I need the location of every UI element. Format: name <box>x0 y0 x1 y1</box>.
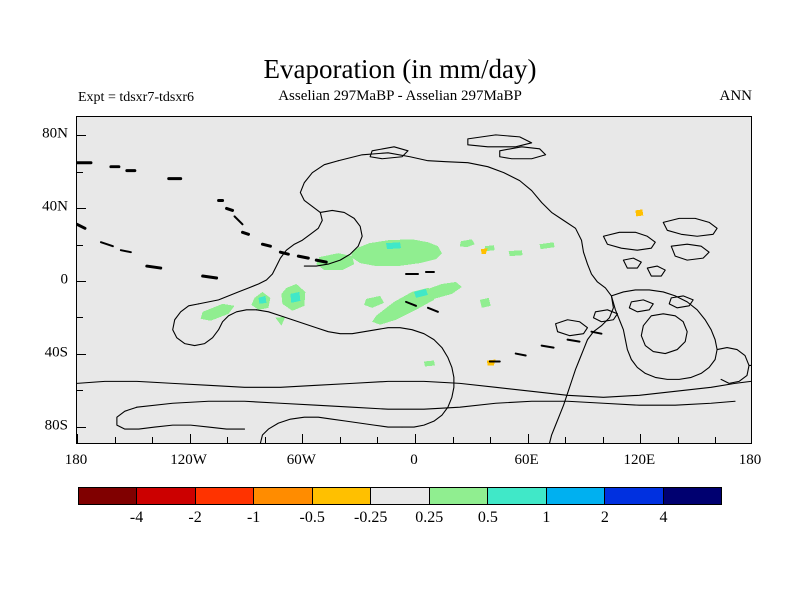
island-dash-22 <box>542 346 554 348</box>
island-dash-6 <box>227 208 233 210</box>
page-title: Evaporation (in mm/day) <box>0 54 800 85</box>
island-dash-21 <box>516 354 526 356</box>
island-dash-10 <box>280 252 288 254</box>
coastline-se-continent <box>611 290 717 379</box>
xtick-60w <box>302 434 303 443</box>
coastline-south-arc-b <box>593 310 617 322</box>
xaxis-label-180e: 180 <box>739 452 762 469</box>
anomaly-green-speck-c <box>540 242 555 249</box>
coastline-antarctic-inner <box>137 401 735 409</box>
island-dash-8 <box>243 232 249 234</box>
xtick-0 <box>415 434 416 443</box>
colorbar-segment-10 <box>664 488 721 504</box>
ytick-80n <box>77 135 86 136</box>
coastline-ne-island-a <box>603 232 655 250</box>
xtick-80e <box>565 437 566 443</box>
colorbar-label-5: 0.25 <box>415 509 443 527</box>
colorbar-label-2: -1 <box>247 509 260 527</box>
figure-root: Evaporation (in mm/day) Expt = tdsxr7-td… <box>0 0 800 600</box>
coastline-south-continent-bottom <box>260 417 402 443</box>
anomaly-fills <box>201 209 644 366</box>
colorbar-label-3: -0.5 <box>300 509 325 527</box>
colorbar-swatches <box>78 487 722 505</box>
map-plot-area <box>76 116 752 444</box>
ytick-0 <box>77 281 86 282</box>
island-dash-7 <box>235 216 243 224</box>
coastline-north-upper-left <box>199 161 339 304</box>
anomaly-green-tick-small <box>275 317 285 326</box>
colorbar-label-1: -2 <box>188 509 201 527</box>
xtick-140e <box>678 437 679 443</box>
anomaly-green-south-speck <box>424 361 435 367</box>
colorbar-label-7: 1 <box>542 509 550 527</box>
coastline-ne-island-e <box>647 266 665 276</box>
xtick-180w <box>77 434 78 443</box>
xaxis-label-120w: 120W <box>170 452 207 469</box>
colorbar-segment-4 <box>313 488 371 504</box>
coastline-south-arc-c <box>629 300 653 312</box>
xaxis-label-60e: 60E <box>515 452 539 469</box>
xtick-140w <box>152 437 153 443</box>
anomaly-teal-core-equatorial <box>386 242 401 249</box>
xaxis-label-0: 0 <box>410 452 418 469</box>
island-dash-13 <box>77 224 85 228</box>
ytick-40n <box>77 208 86 209</box>
coastlines <box>77 135 751 443</box>
ytick-80s <box>77 427 86 428</box>
coastline-ne-island-c <box>671 244 709 260</box>
yaxis-label-40n: 40N <box>16 199 68 216</box>
map-canvas <box>77 117 751 443</box>
xtick-100e <box>603 437 604 443</box>
island-dash-23 <box>568 340 580 342</box>
colorbar-segment-1 <box>137 488 195 504</box>
colorbar-segment-7 <box>488 488 546 504</box>
ytick-60n <box>77 172 83 173</box>
anomaly-green-coast-notch <box>480 298 491 308</box>
anomaly-green-south-diagonal-b <box>426 282 462 299</box>
anomaly-amber-ne-speck <box>635 209 643 216</box>
xtick-160w <box>115 437 116 443</box>
colorbar-segment-3 <box>254 488 312 504</box>
anomaly-green-south-patch <box>201 304 235 321</box>
xtick-80w <box>265 437 266 443</box>
colorbar-label-0: -4 <box>130 509 143 527</box>
anomaly-green-speck-a <box>460 239 475 247</box>
island-dash-17 <box>203 276 217 278</box>
island-dash-12 <box>316 260 326 262</box>
anomaly-green-speck-b <box>509 250 523 256</box>
yaxis-label-80n: 80N <box>16 126 68 143</box>
yaxis-label-40s: 40S <box>16 344 68 361</box>
island-dash-14 <box>101 242 113 246</box>
colorbar-label-9: 4 <box>659 509 667 527</box>
colorbar-segment-8 <box>547 488 605 504</box>
xaxis-label-60w: 60W <box>287 452 316 469</box>
xtick-20w <box>377 437 378 443</box>
xaxis-label-120e: 120E <box>623 452 655 469</box>
colorbar-segment-6 <box>430 488 488 504</box>
xtick-180e <box>751 434 752 443</box>
ytick-20s <box>77 317 83 318</box>
ytick-60s <box>77 390 83 391</box>
island-dash-15 <box>121 250 131 252</box>
coastline-polar-fragment <box>468 135 532 147</box>
xtick-40w <box>340 437 341 443</box>
coastline-arctic-island-a <box>500 147 546 159</box>
colorbar-segment-0 <box>79 488 137 504</box>
island-dash-24 <box>591 332 601 334</box>
xtick-40e <box>490 437 491 443</box>
ytick-40s <box>77 354 86 355</box>
colorbar-label-6: 0.5 <box>478 509 498 527</box>
yaxis-label-80s: 80S <box>16 417 68 434</box>
island-dash-11 <box>298 256 308 258</box>
yaxis-label-0: 0 <box>16 272 68 289</box>
xaxis-label-180w: 180 <box>65 452 88 469</box>
colorbar-label-8: 2 <box>601 509 609 527</box>
season-label: ANN <box>720 88 753 105</box>
coastline-antarctic-peninsula <box>117 407 245 429</box>
colorbar-label-4: -0.25 <box>354 509 387 527</box>
coastline-east-peninsula <box>717 348 749 384</box>
anomaly-amber-south-speck <box>481 248 488 254</box>
xtick-60e <box>528 434 529 443</box>
anomaly-green-right-edge <box>364 296 384 308</box>
xtick-160e <box>715 437 716 443</box>
xtick-20e <box>453 437 454 443</box>
island-dash-9 <box>262 244 270 246</box>
xtick-120w <box>190 434 191 443</box>
xtick-120e <box>640 434 641 443</box>
island-dash-26 <box>428 308 438 312</box>
coastline-south-arc-a <box>556 320 588 336</box>
island-dash-16 <box>147 266 161 268</box>
colorbar-segment-5 <box>371 488 429 504</box>
coastline-ne-island-d <box>623 258 641 268</box>
ytick-20n <box>77 245 83 246</box>
colorbar: -4-2-1-0.5-0.250.250.5124 <box>78 487 722 505</box>
colorbar-segment-2 <box>196 488 254 504</box>
coastline-south-arc-d <box>669 296 693 308</box>
coastline-se-inner <box>641 314 687 354</box>
colorbar-segment-9 <box>605 488 663 504</box>
coastline-antarctic-main <box>77 381 751 397</box>
case-label: Asselian 297MaBP - Asselian 297MaBP <box>0 88 800 105</box>
coastline-ne-island-b <box>663 218 717 236</box>
xtick-100w <box>227 437 228 443</box>
